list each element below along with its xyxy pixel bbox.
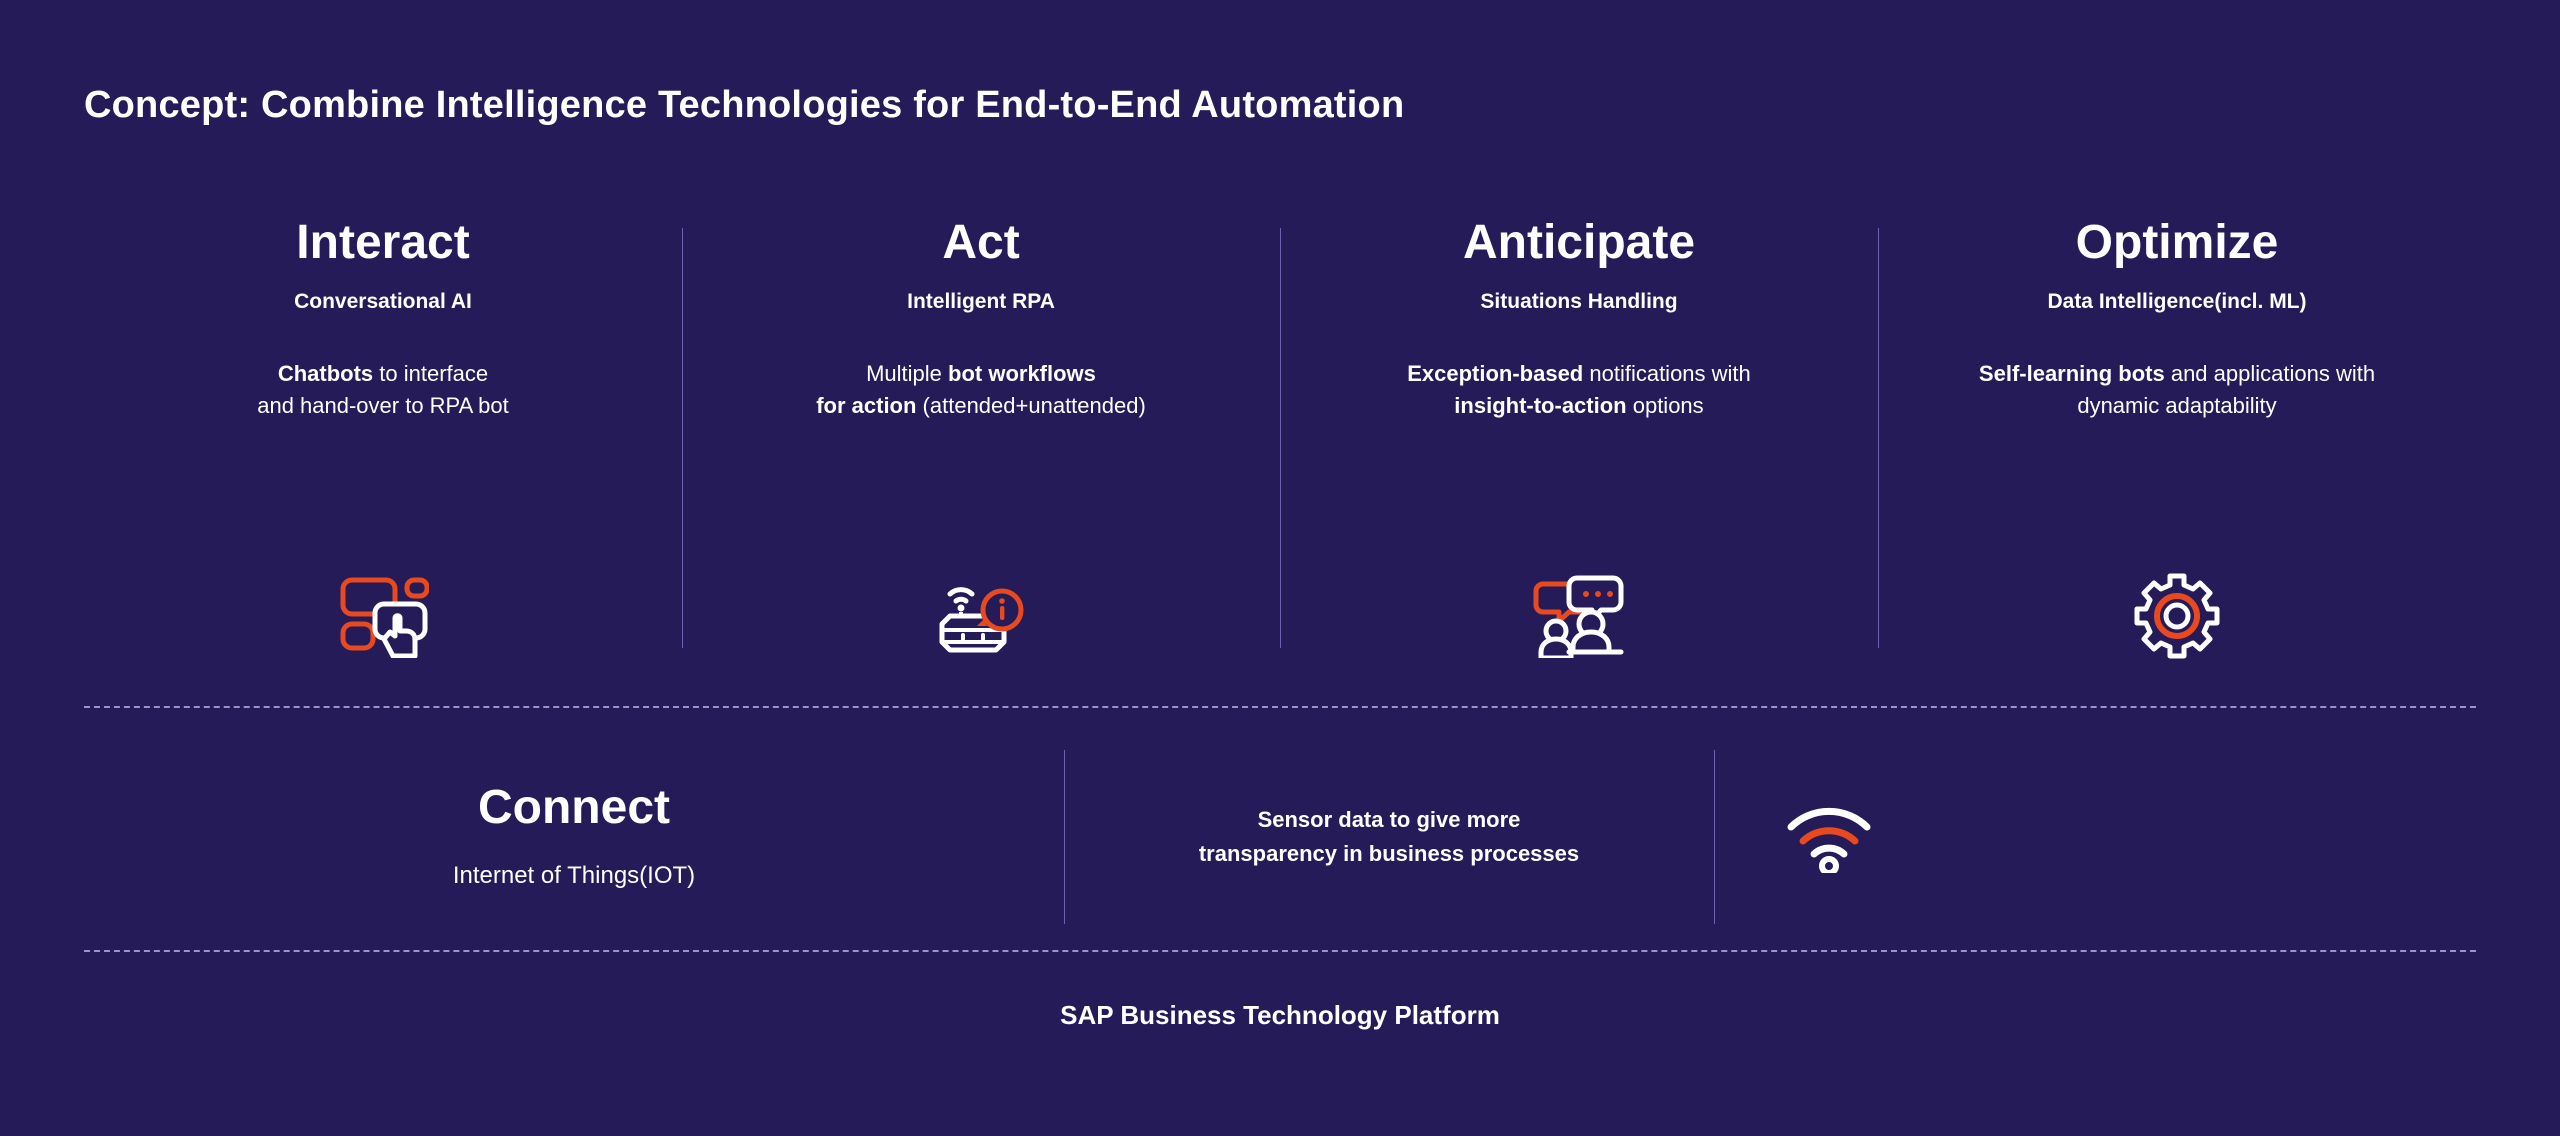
column-optimize[interactable]: Optimize Data Intelligence(incl. ML) Sel…: [1878, 218, 2476, 678]
column-heading: Anticipate: [1463, 218, 1695, 268]
column-act[interactable]: Act Intelligent RPA Multiple bot workflo…: [682, 218, 1280, 678]
slide-root: Concept: Combine Intelligence Technologi…: [0, 0, 2560, 1136]
connect-description-line2: transparency in business processes: [1199, 837, 1579, 871]
column-body-text: options: [1627, 393, 1704, 418]
column-heading: Interact: [296, 218, 469, 268]
connect-icon-cell: [1714, 742, 1944, 932]
column-body: Self-learning bots and applications with…: [1979, 358, 2375, 422]
connect-description-line1: Sensor data to give more: [1199, 803, 1579, 837]
column-body-text: notifications with: [1583, 361, 1751, 386]
column-body-bold: Chatbots: [278, 361, 373, 386]
column-body-text: and hand-over to RPA bot: [257, 393, 509, 418]
connect-band[interactable]: Connect Internet of Things(IOT) Sensor d…: [84, 742, 2476, 932]
column-body-text: to interface: [373, 361, 488, 386]
divider-dashed-top: [84, 706, 2476, 708]
column-heading: Optimize: [2076, 218, 2279, 268]
page-title: Concept: Combine Intelligence Technologi…: [84, 84, 1404, 127]
column-body-bold: Exception-based: [1407, 361, 1583, 386]
column-body: Chatbots to interface and hand-over to R…: [257, 358, 509, 422]
connect-heading: Connect: [478, 784, 670, 832]
column-body-bold: Self-learning bots: [1979, 361, 2165, 386]
column-subtitle: Data Intelligence(incl. ML): [2047, 290, 2306, 314]
connect-title-group: Connect Internet of Things(IOT): [84, 742, 1064, 932]
capability-columns: Interact Conversational AI Chatbots to i…: [84, 218, 2476, 678]
column-body-bold: for action: [816, 393, 916, 418]
platform-footer-label: SAP Business Technology Platform: [0, 1000, 2560, 1031]
column-interact[interactable]: Interact Conversational AI Chatbots to i…: [84, 218, 682, 678]
column-anticipate[interactable]: Anticipate Situations Handling Exception…: [1280, 218, 1878, 678]
column-body-text: dynamic adaptability: [2077, 393, 2276, 418]
people-chat-bubbles-icon: [1533, 570, 1625, 662]
gear-icon: [2134, 570, 2220, 662]
column-body-bold: bot workflows: [948, 361, 1096, 386]
column-body: Exception-based notifications with insig…: [1407, 358, 1751, 422]
connect-description: Sensor data to give more transparency in…: [1064, 742, 1714, 932]
screens-with-pointer-icon: [337, 570, 429, 662]
divider-vertical: [1064, 750, 1065, 924]
bot-info-bubble-icon: [936, 570, 1026, 662]
column-body-bold: insight-to-action: [1454, 393, 1626, 418]
divider-dashed-bottom: [84, 950, 2476, 952]
divider-vertical: [1714, 750, 1715, 924]
column-body: Multiple bot workflows for action (atten…: [816, 358, 1146, 422]
column-subtitle: Conversational AI: [294, 290, 472, 314]
column-heading: Act: [942, 218, 1019, 268]
column-subtitle: Intelligent RPA: [907, 290, 1055, 314]
column-subtitle: Situations Handling: [1480, 290, 1677, 314]
column-body-text: and applications with: [2165, 361, 2375, 386]
column-body-text: (attended+unattended): [916, 393, 1145, 418]
connect-subtitle: Internet of Things(IOT): [453, 862, 695, 890]
column-body-text: Multiple: [866, 361, 948, 386]
wifi-icon: [1785, 801, 1873, 873]
